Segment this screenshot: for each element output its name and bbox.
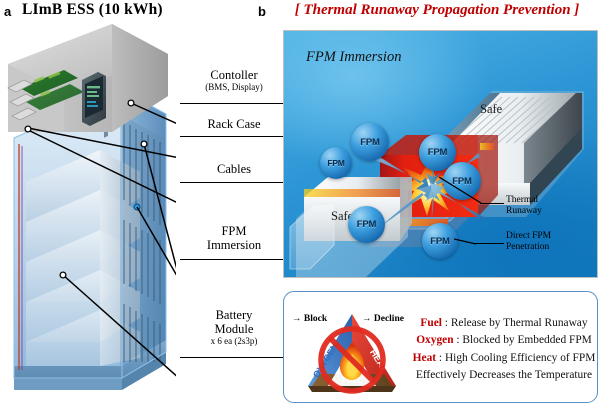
callout-cables: Cables (182, 162, 286, 176)
callout-direct-fpm-penetration: Direct FPM Penetration (506, 231, 551, 253)
block-note: → Block (292, 314, 327, 324)
callout-direct-fpm-penetration-rule (474, 243, 504, 244)
callout-fpm-immersion: FPM Immersion (182, 224, 286, 252)
callout-controller-rule (180, 103, 288, 104)
legend-row-summary: Effectively Decreases the Temperature (412, 367, 596, 383)
legend-row-heat: Heat : High Cooling Efficiency of FPM (412, 350, 596, 366)
panel-b-letter: b (258, 4, 266, 19)
callout-battery-module-rule (180, 357, 288, 358)
fpm-bubble-5: FPM (348, 206, 385, 243)
fpm-bubble-1: FPM (320, 147, 352, 179)
callout-rack-case: Rack Case (182, 117, 286, 131)
callout-battery-module: Battery Module x 6 ea (2s3p) (182, 308, 286, 346)
fire-triangle-graphic: OXYGEN HEAT FUEL → Block → Decline (290, 300, 414, 396)
fpm-immersion-diagram: FPM Immersion (283, 30, 598, 278)
panel-b-title: [ Thermal Runaway Propagation Prevention… (276, 2, 598, 19)
callout-rack-case-rule (180, 136, 288, 137)
legend-row-oxygen: Oxygen : Blocked by Embedded FPM (412, 332, 596, 348)
panel-a-letter: a (4, 4, 11, 19)
fire-triangle-legend: OXYGEN HEAT FUEL → Block → Decline Fuel … (283, 291, 598, 403)
callout-controller: Contoller (BMS, Display) (182, 68, 286, 92)
legend-row-fuel: Fuel : Release by Thermal Runaway (412, 315, 596, 331)
callout-cables-rule (180, 182, 288, 183)
panel-a-title: LImB ESS (10 kWh) (22, 1, 163, 19)
fpm-bubble-2: FPM (351, 123, 389, 161)
callout-thermal-runaway: Thermal Runaway (506, 195, 542, 217)
figure-canvas: a LImB ESS (10 kWh) (0, 0, 600, 407)
thermal-runaway-leader (439, 177, 483, 207)
safe-tag-upper: Safe (480, 102, 502, 117)
ess-rack-illustration (0, 22, 176, 407)
callout-thermal-runaway-rule (480, 203, 504, 204)
legend-text-block: Fuel : Release by Thermal Runaway Oxygen… (412, 302, 596, 396)
fpm-bubble-6: FPM (422, 223, 458, 259)
decline-note: → Decline (362, 314, 404, 324)
direct-fpm-leader (454, 237, 478, 247)
callout-fpm-immersion-rule (180, 259, 288, 260)
